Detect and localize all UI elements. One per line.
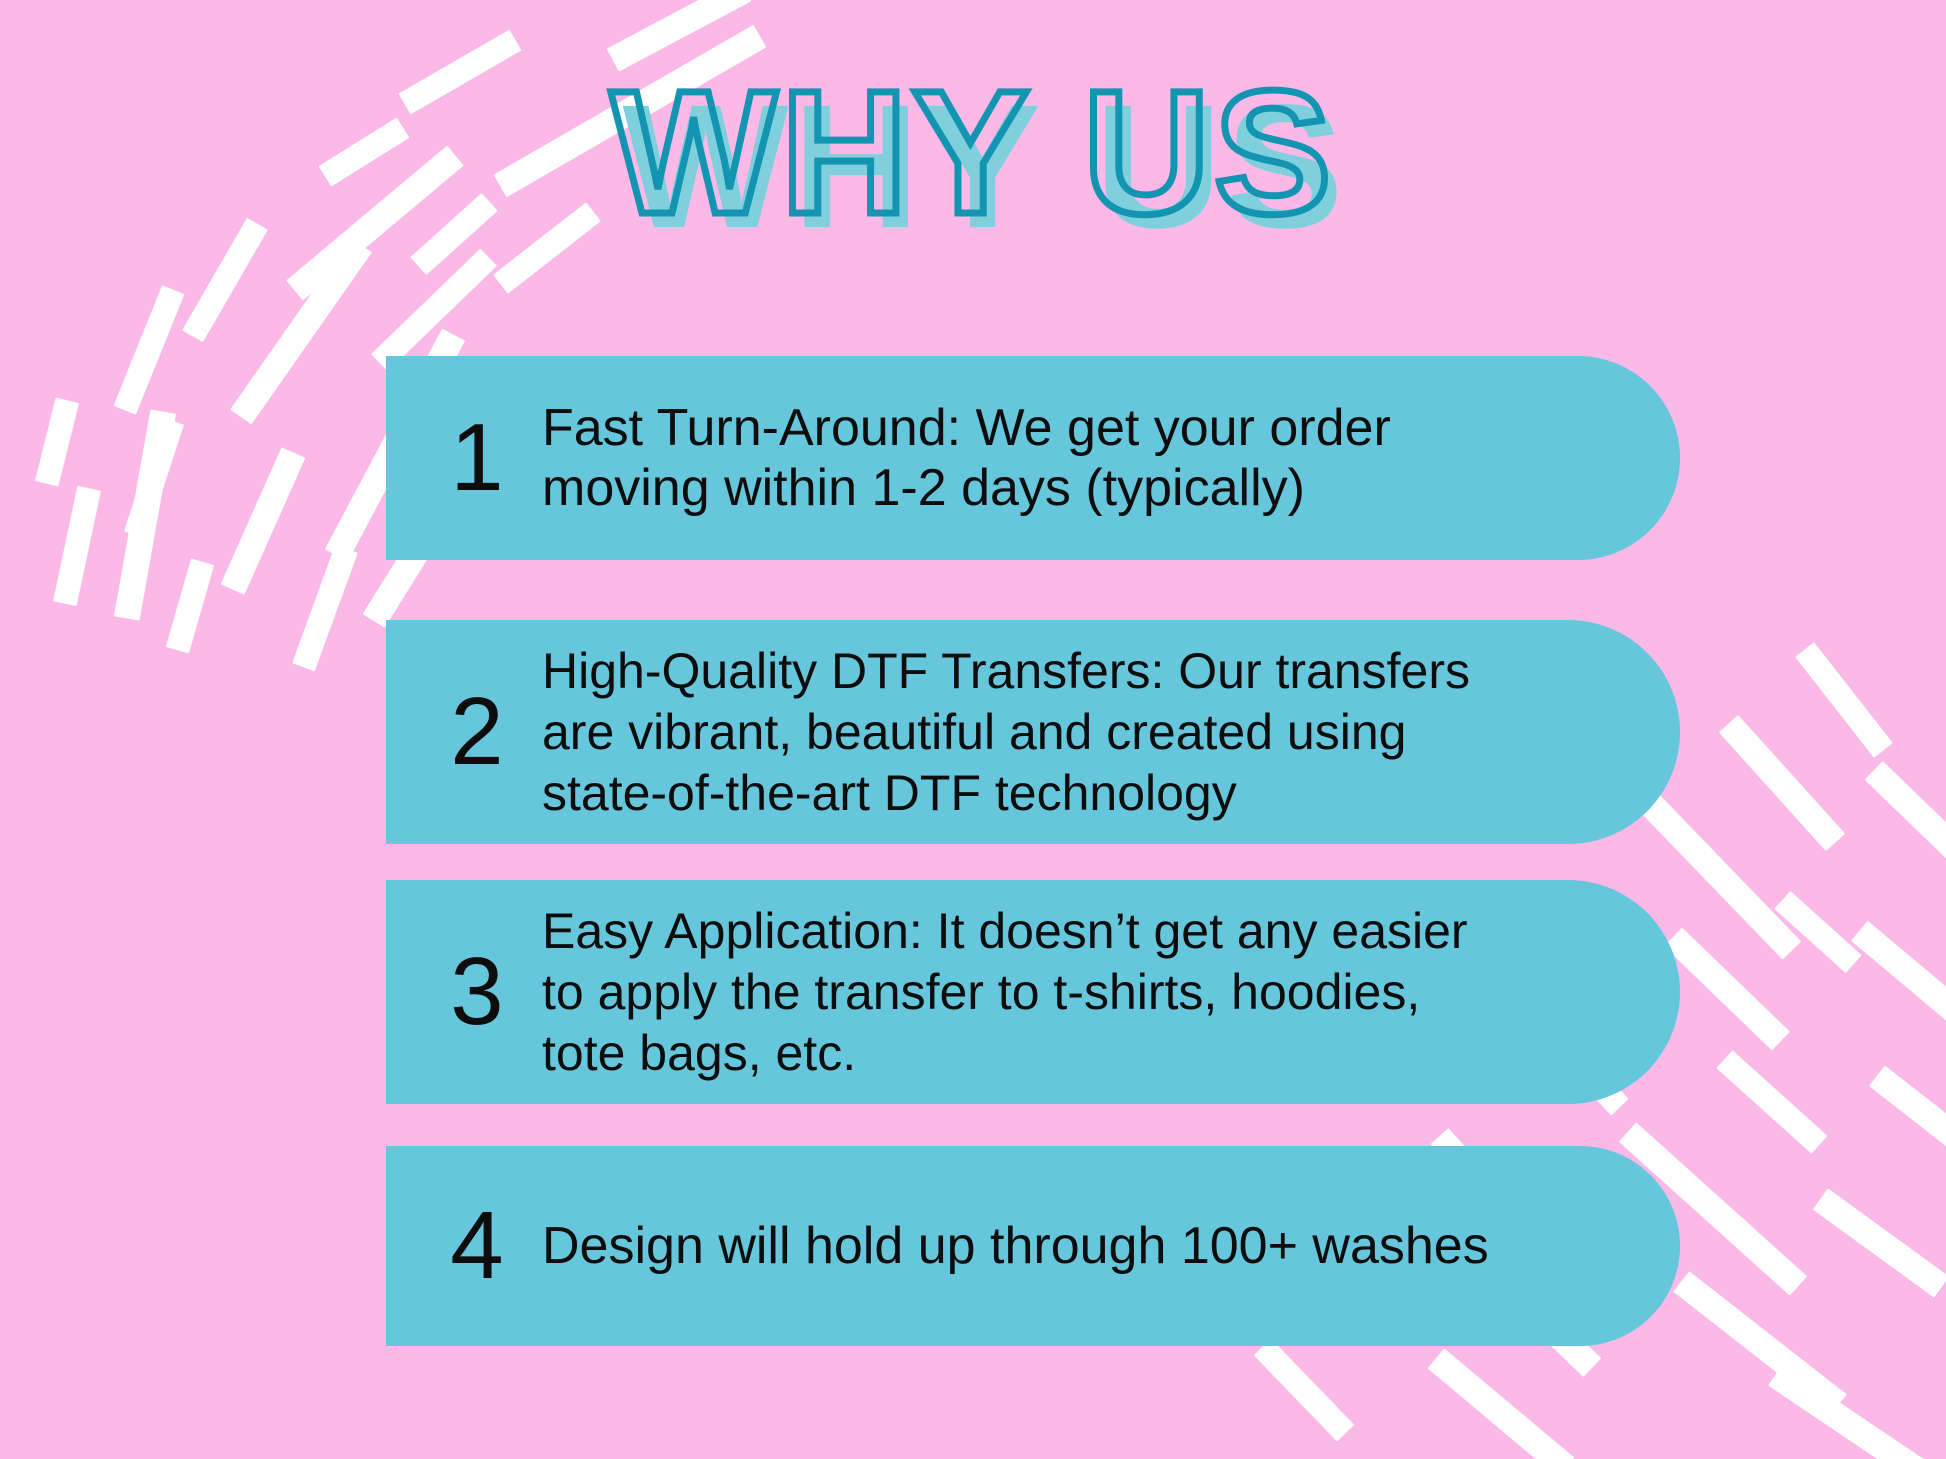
card-number: 3	[434, 944, 520, 1040]
card-number: 4	[434, 1198, 520, 1294]
dash-stripe-icon	[1719, 715, 1845, 851]
dash-stripe-icon	[292, 545, 358, 672]
feature-card: 4 Design will hold up through 100+ washe…	[386, 1146, 1680, 1346]
card-text: Design will hold up through 100+ washes	[542, 1216, 1489, 1276]
dash-stripe-icon	[1428, 1348, 1575, 1459]
dash-stripe-icon	[1768, 1364, 1932, 1459]
card-number: 1	[434, 410, 520, 506]
card-number: 2	[434, 684, 520, 780]
dash-stripe-icon	[1795, 642, 1893, 758]
dash-stripe-icon	[114, 285, 185, 415]
dash-stripe-icon	[53, 486, 101, 606]
poster-canvas: WHY US WHY US 1 Fast Turn-Around: We get…	[0, 0, 1946, 1459]
dash-stripe-icon	[1813, 1188, 1946, 1297]
dash-stripe-icon	[221, 447, 306, 595]
title-outline-layer: WHY US	[0, 58, 1946, 248]
card-text: Fast Turn-Around: We get your order movi…	[542, 398, 1391, 519]
dash-stripe-icon	[230, 238, 372, 425]
dash-stripe-icon	[35, 397, 79, 486]
feature-card: 3 Easy Application: It doesn’t get any e…	[386, 880, 1680, 1104]
page-title: WHY US WHY US	[0, 58, 1946, 248]
dash-stripe-icon	[114, 409, 176, 620]
feature-card: 1 Fast Turn-Around: We get your order mo…	[386, 356, 1680, 560]
feature-card: 2 High-Quality DTF Transfers: Our transf…	[386, 620, 1680, 844]
card-text: Easy Application: It doesn’t get any eas…	[542, 901, 1468, 1084]
card-text: High-Quality DTF Transfers: Our transfer…	[542, 641, 1470, 824]
dash-stripe-icon	[1254, 1339, 1355, 1442]
dash-stripe-icon	[1865, 761, 1946, 877]
dash-stripe-icon	[1716, 1050, 1827, 1153]
dash-stripe-icon	[166, 558, 214, 653]
dash-stripe-icon	[1851, 921, 1946, 1069]
dash-stripe-icon	[1869, 1066, 1946, 1185]
